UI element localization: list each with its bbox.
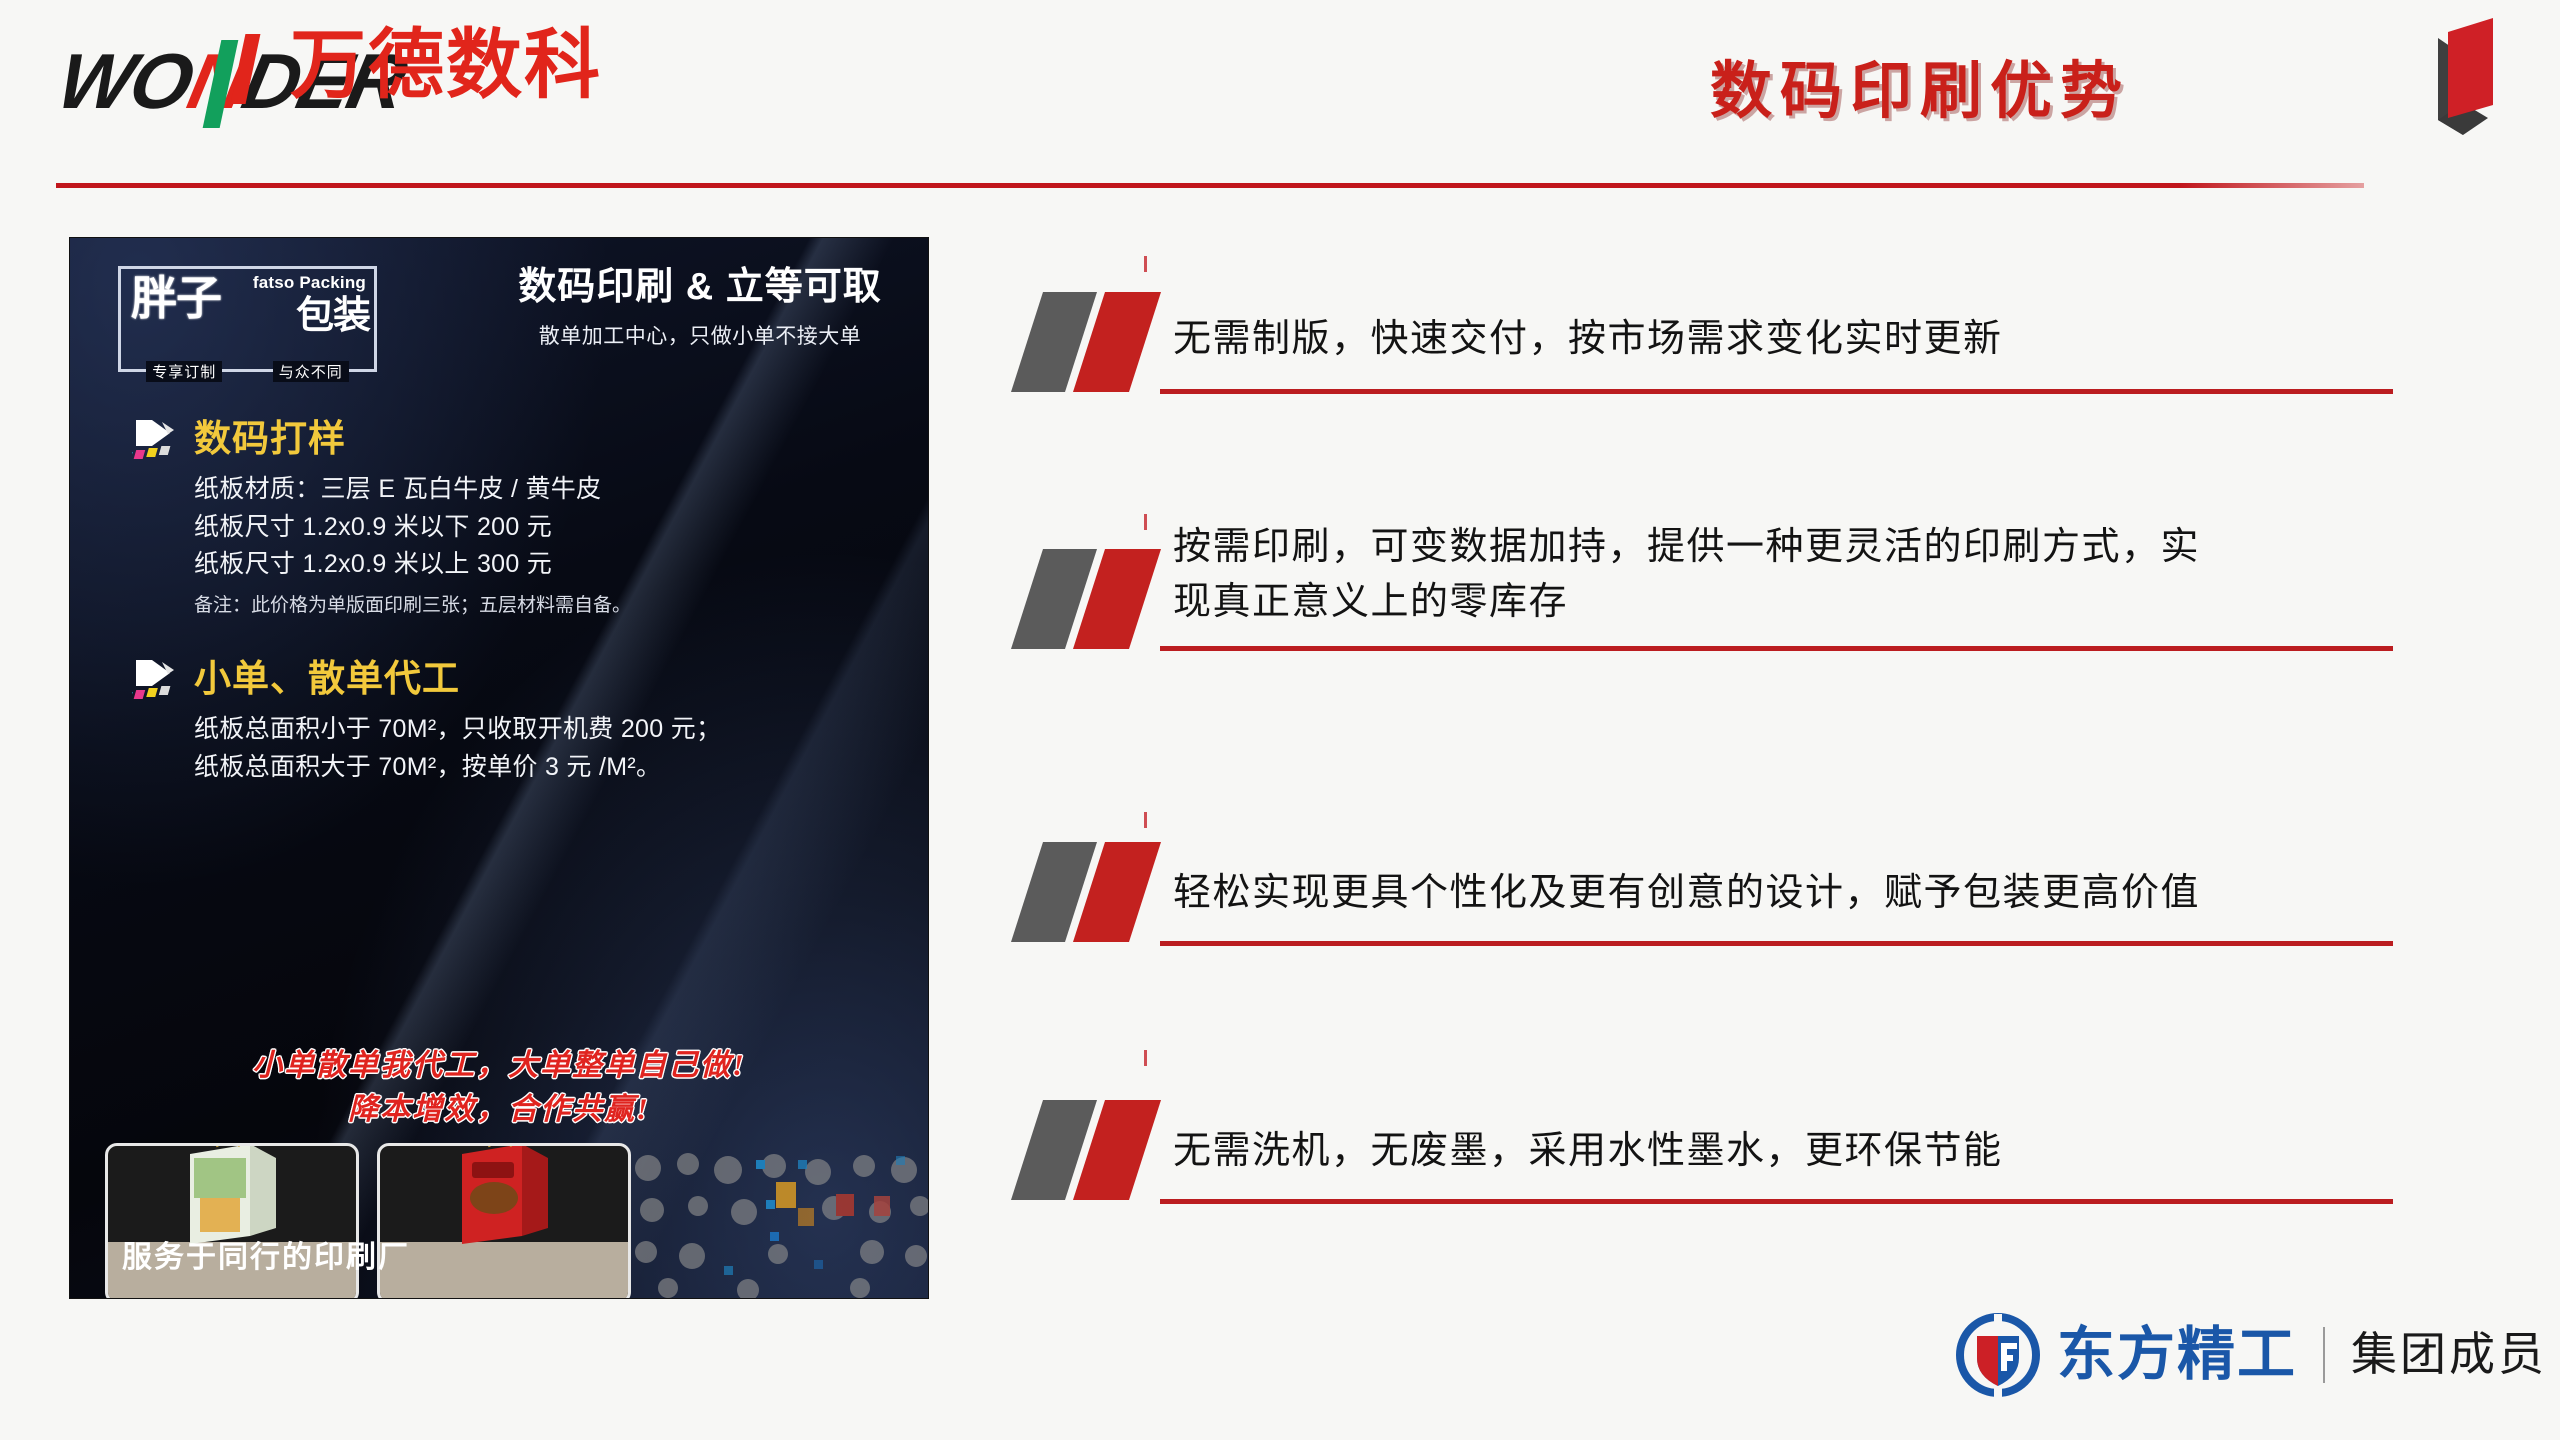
logo-separator	[2323, 1327, 2325, 1383]
advantage-line: 按需印刷，可变数据加持，提供一种更灵活的印刷方式，实	[1173, 520, 2200, 575]
tick-marker	[1144, 514, 1147, 530]
poster-subheadline: 散单加工中心，只做小单不接大单	[500, 320, 900, 350]
poster-slogan: 小单散单我代工，大单整单自己做! 降本增效，合作共赢!	[70, 1044, 928, 1131]
slogan-line: 小单散单我代工，大单整单自己做!	[70, 1044, 928, 1088]
page-title: 数码印刷优势	[1710, 40, 2130, 130]
tick-marker	[1144, 256, 1147, 272]
section-line: 纸板尺寸 1.2x0.9 米以上 300 元	[194, 546, 631, 584]
fatso-tagline-right: 与众不同	[273, 361, 349, 382]
advantage-line: 无需洗机，无废墨，采用水性墨水，更环保节能	[1173, 1124, 2003, 1179]
section-lines: 纸板材质：三层 E 瓦白牛皮 / 黄牛皮 纸板尺寸 1.2x0.9 米以下 20…	[194, 471, 631, 584]
poster-footer-text: 服务于同行的印刷厂	[122, 1232, 410, 1276]
fatso-logo-taglines: 专享订制 与众不同	[121, 361, 374, 382]
advantage-line: 无需制版，快速交付，按市场需求变化实时更新	[1173, 312, 2003, 367]
tick-marker	[1144, 1050, 1147, 1066]
fatso-tagline-left: 专享订制	[146, 361, 222, 382]
slogan-line: 降本增效，合作共赢!	[70, 1088, 928, 1132]
section-title: 小单、散单代工	[194, 660, 721, 697]
gallery-item	[377, 1143, 631, 1298]
header-divider	[56, 183, 2364, 188]
advantage-underline	[1160, 941, 2393, 946]
advantage-underline	[1160, 389, 2393, 394]
advantage-underline	[1160, 646, 2393, 651]
promo-poster-image: 胖子 fatso Packing 包装 专享订制 与众不同 数码印刷 & 立等可…	[70, 238, 928, 1298]
group-member-label: 集团成员	[2351, 1332, 2547, 1378]
section-line: 纸板总面积小于 70M²，只收取开机费 200 元；	[194, 711, 721, 749]
slide-header: WONDER 万德数科 数码印刷优势	[0, 0, 2560, 200]
chevron-right-icon	[132, 416, 188, 468]
advantage-text: 轻松实现更具个性化及更有创意的设计，赋予包装更高价值	[1173, 866, 2200, 921]
brand-chinese-name: 万德数科	[290, 28, 602, 104]
fatso-logo-en: fatso Packing	[253, 274, 366, 291]
advantage-line: 现真正意义上的零库存	[1173, 575, 2200, 630]
brand-latin-pre: WO	[51, 37, 200, 125]
fatso-logo-cn2: 包装	[296, 297, 370, 335]
poster-header: 胖子 fatso Packing 包装 专享订制 与众不同 数码印刷 & 立等可…	[70, 238, 928, 388]
advantage-line: 轻松实现更具个性化及更有创意的设计，赋予包装更高价值	[1173, 866, 2200, 921]
poster-headline-block: 数码印刷 & 立等可取 散单加工中心，只做小单不接大单	[500, 264, 900, 350]
section-line: 纸板材质：三层 E 瓦白牛皮 / 黄牛皮	[194, 471, 631, 509]
section-title: 数码打样	[194, 420, 631, 457]
fatso-logo: 胖子 fatso Packing 包装 专享订制 与众不同	[118, 266, 377, 372]
poster-section-small-orders: 小单、散单代工 纸板总面积小于 70M²，只收取开机费 200 元； 纸板总面积…	[132, 660, 721, 786]
section-lines: 纸板总面积小于 70M²，只收取开机费 200 元； 纸板总面积大于 70M²，…	[194, 711, 721, 786]
section-note: 备注：此价格为单版面印刷三张；五层材料需自备。	[194, 590, 631, 617]
group-member-logo: 东方精工 集团成员	[1955, 1312, 2547, 1398]
advantage-text: 无需洗机，无废墨，采用水性墨水，更环保节能	[1173, 1124, 2003, 1179]
folded-page-icon	[2408, 10, 2498, 140]
advantage-text: 无需制版，快速交付，按市场需求变化实时更新	[1173, 312, 2003, 367]
shield-globe-icon	[1955, 1312, 2041, 1398]
decorative-dots	[628, 1148, 928, 1298]
advantage-text: 按需印刷，可变数据加持，提供一种更灵活的印刷方式，实 现真正意义上的零库存	[1173, 520, 2200, 630]
poster-section-digital-proofing: 数码打样 纸板材质：三层 E 瓦白牛皮 / 黄牛皮 纸板尺寸 1.2x0.9 米…	[132, 420, 631, 617]
company-name: 东方精工	[2057, 1326, 2297, 1384]
poster-headline: 数码印刷 & 立等可取	[500, 264, 900, 312]
chevron-right-icon	[132, 656, 188, 708]
section-line: 纸板总面积大于 70M²，按单价 3 元 /M²。	[194, 749, 721, 787]
advantage-underline	[1160, 1199, 2393, 1204]
section-line: 纸板尺寸 1.2x0.9 米以下 200 元	[194, 509, 631, 547]
fatso-logo-cn: 胖子	[131, 275, 221, 321]
tick-marker	[1144, 812, 1147, 828]
slide: WONDER 万德数科 数码印刷优势 胖子 fatso Packing 包装 专…	[0, 0, 2560, 1440]
